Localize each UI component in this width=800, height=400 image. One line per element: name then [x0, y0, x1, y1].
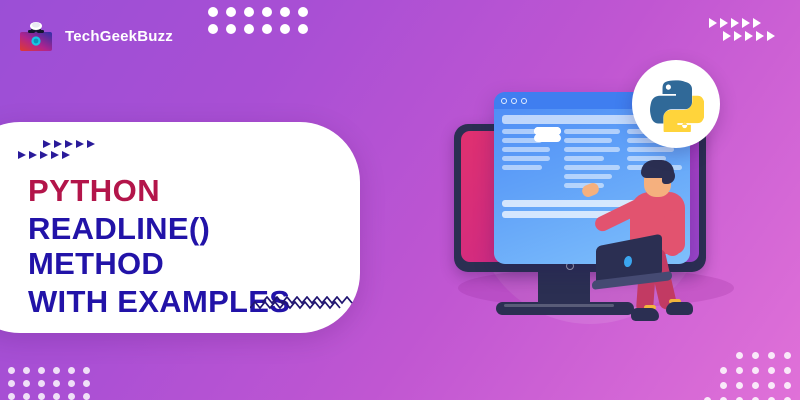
- page-title-eyebrow: PYTHON: [28, 174, 348, 209]
- dot-grid-icon: [208, 7, 316, 41]
- monitor-base-highlight: [504, 304, 614, 307]
- dot-grid-icon: [8, 367, 98, 400]
- page-title-line1: readline() Method: [28, 211, 348, 282]
- browser-dot-maximize-icon: [521, 98, 527, 104]
- person-with-laptop-icon: [604, 148, 734, 328]
- triangle-arrows-icon: [18, 140, 98, 159]
- python-logo-icon: [632, 60, 720, 148]
- banner-root: TechGeekBuzz: [0, 0, 800, 400]
- browser-dot-close-icon: [501, 98, 507, 104]
- techgeekbuzz-camera-logo-icon: [18, 20, 54, 53]
- hero-illustration: [438, 36, 768, 366]
- brand-logo[interactable]: TechGeekBuzz: [18, 20, 173, 53]
- brand-name: TechGeekBuzz: [65, 28, 173, 45]
- browser-dot-minimize-icon: [511, 98, 517, 104]
- zigzag-squiggle-icon: [262, 296, 354, 310]
- monitor-neck: [538, 272, 590, 306]
